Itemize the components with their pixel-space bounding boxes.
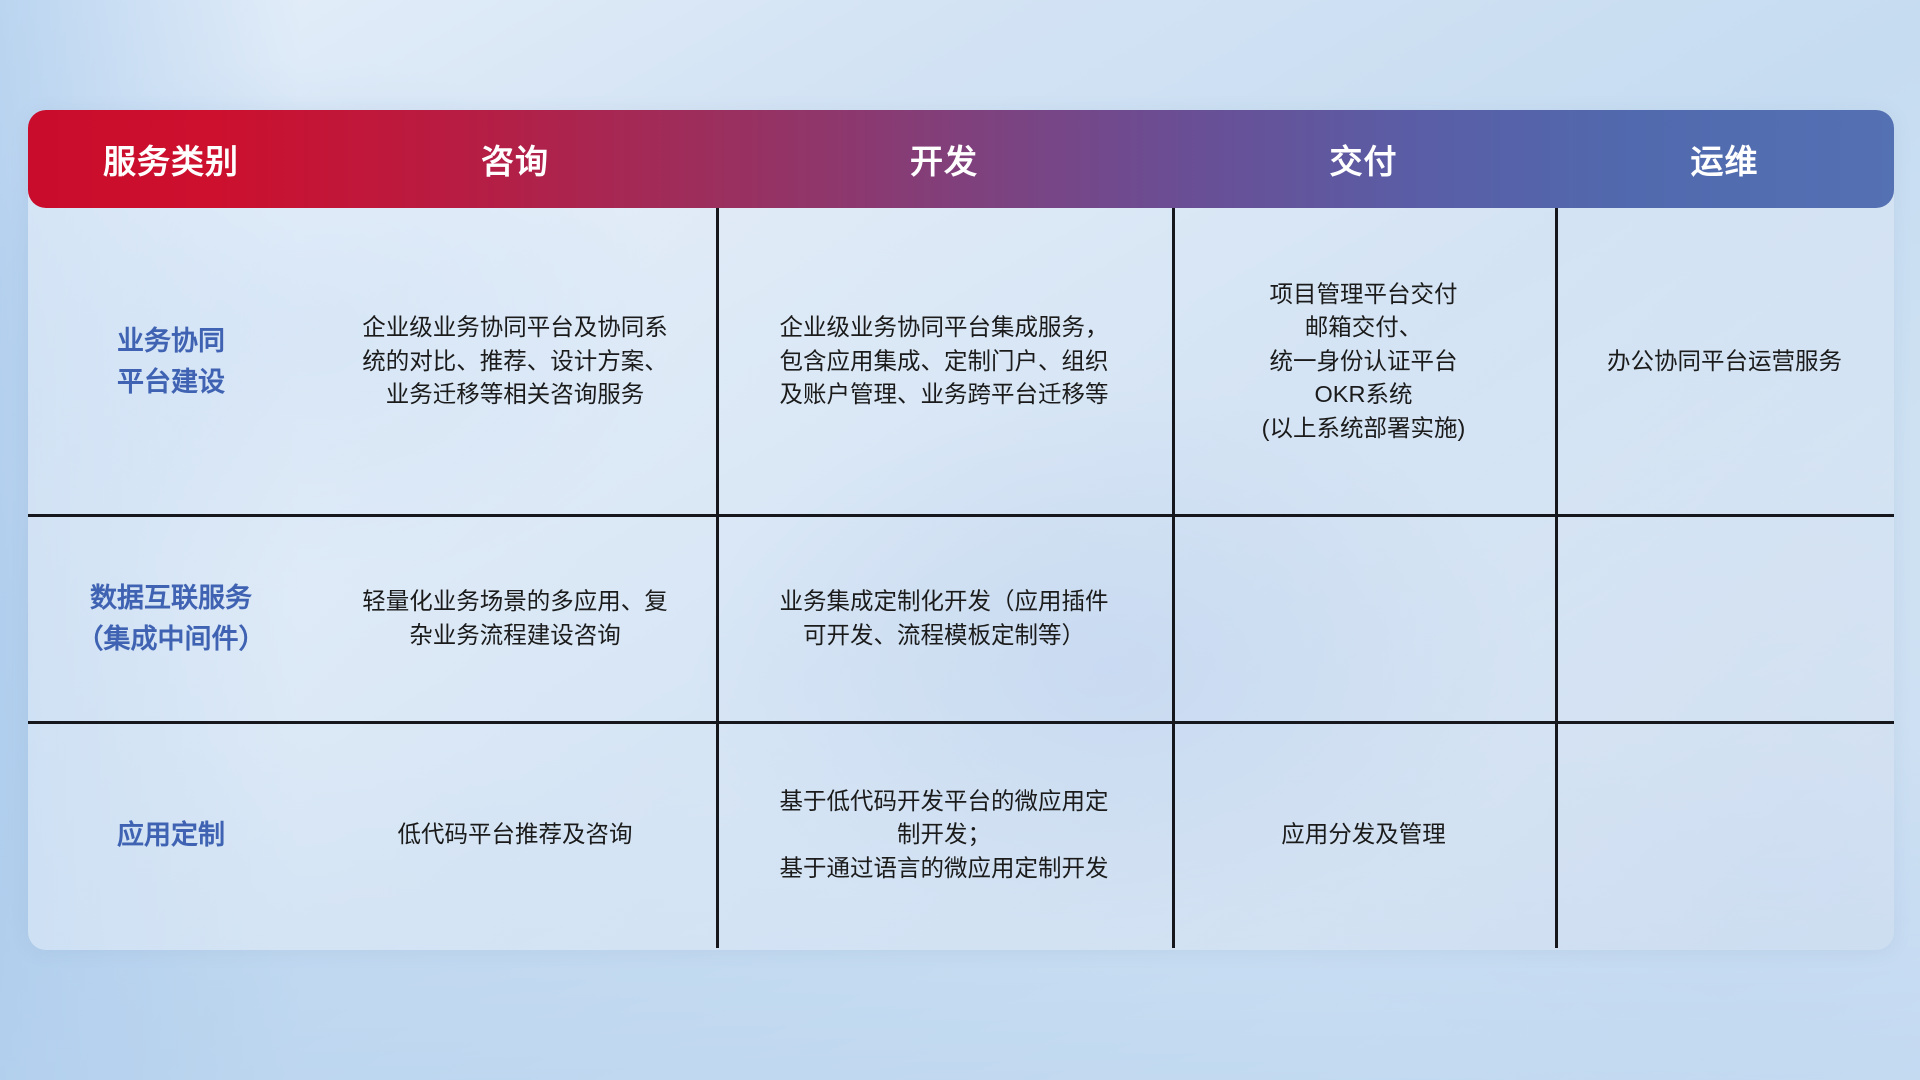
row-divider-2 [28,721,1894,724]
cell-development: 基于低代码开发平台的微应用定 制开发； 基于通过语言的微应用定制开发 [716,722,1172,948]
cell-development: 企业级业务协同平台集成服务， 包含应用集成、定制门户、组织 及账户管理、业务跨平… [716,208,1172,515]
cell-operations [1555,515,1894,722]
column-header-development: 开发 [716,135,1172,183]
cell-development: 业务集成定制化开发（应用插件 可开发、流程模板定制等） [716,515,1172,722]
cell-delivery: 应用分发及管理 [1172,722,1555,948]
column-divider-3 [1555,208,1558,948]
cell-consulting: 轻量化业务场景的多应用、复 杂业务流程建设咨询 [314,515,716,722]
column-header-consulting: 咨询 [314,135,716,183]
row-divider-1 [28,514,1894,517]
cell-delivery [1172,515,1555,722]
cell-delivery: 项目管理平台交付 邮箱交付、 统一身份认证平台 OKR系统 (以上系统部署实施) [1172,208,1555,515]
cell-operations [1555,722,1894,948]
cell-consulting: 低代码平台推荐及咨询 [314,722,716,948]
cell-operations: 办公协同平台运营服务 [1555,208,1894,515]
table-row: 应用定制 低代码平台推荐及咨询 基于低代码开发平台的微应用定 制开发； 基于通过… [28,722,1894,948]
cell-consulting: 企业级业务协同平台及协同系 统的对比、推荐、设计方案、 业务迁移等相关咨询服务 [314,208,716,515]
column-header-delivery: 交付 [1172,135,1555,183]
table-header-row: 服务类别 咨询 开发 交付 运维 [28,110,1894,208]
row-category-label: 数据互联服务 （集成中间件） [28,515,314,722]
column-divider-1 [716,208,719,948]
column-header-service-category: 服务类别 [28,135,314,183]
row-category-label: 业务协同 平台建设 [28,208,314,515]
table-row: 数据互联服务 （集成中间件） 轻量化业务场景的多应用、复 杂业务流程建设咨询 业… [28,515,1894,722]
table-body: 业务协同 平台建设 企业级业务协同平台及协同系 统的对比、推荐、设计方案、 业务… [28,208,1894,948]
column-divider-2 [1172,208,1175,948]
table-row: 业务协同 平台建设 企业级业务协同平台及协同系 统的对比、推荐、设计方案、 业务… [28,208,1894,515]
row-category-label: 应用定制 [28,722,314,948]
column-header-operations: 运维 [1555,135,1894,183]
